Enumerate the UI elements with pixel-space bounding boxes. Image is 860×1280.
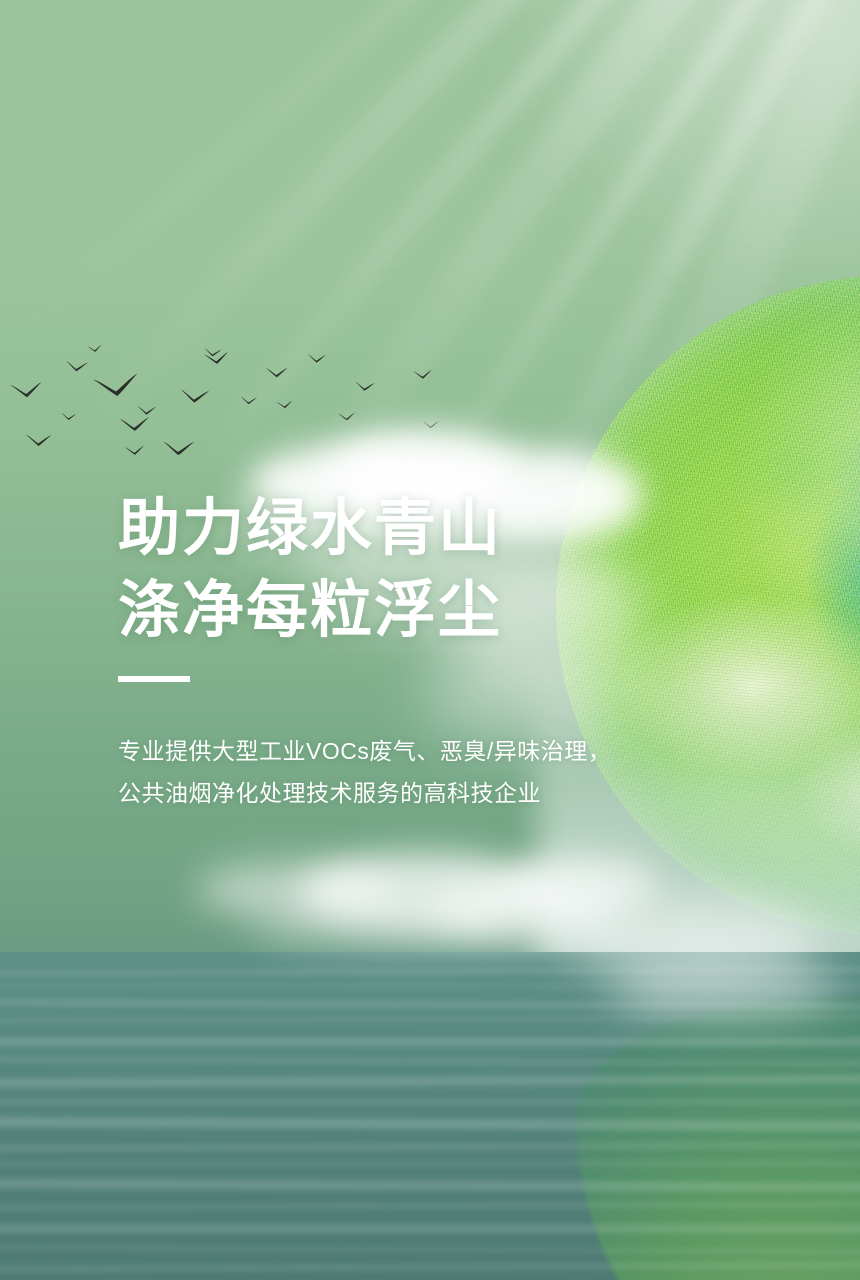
water-ripple	[0, 1160, 860, 1167]
bird-icon	[119, 416, 152, 434]
subtitle-line-1: 专业提供大型工业VOCs废气、恶臭/异味治理，	[118, 730, 678, 772]
banner-stage: 助力绿水青山 涤净每粒浮尘 专业提供大型工业VOCs废气、恶臭/异味治理， 公共…	[0, 0, 860, 1280]
subtitle-line-2: 公共油烟净化处理技术服务的高科技企业	[118, 772, 678, 814]
bird-icon	[337, 412, 356, 423]
bird-icon	[65, 360, 90, 375]
bird-icon	[240, 396, 258, 407]
bird-icon	[203, 351, 231, 367]
bird-icon	[91, 371, 143, 402]
bird-icon	[124, 445, 146, 457]
headline-line-1: 助力绿水青山	[118, 488, 678, 570]
water-ripple	[0, 1098, 860, 1106]
bird-icon	[61, 412, 78, 422]
bird-icon	[162, 439, 197, 458]
bird-icon	[25, 433, 53, 449]
headline-line-2: 涤净每粒浮尘	[118, 570, 678, 652]
water-ripple	[0, 1222, 860, 1235]
cloud	[610, 960, 840, 1020]
copy-block: 助力绿水青山 涤净每粒浮尘 专业提供大型工业VOCs废气、恶臭/异味治理， 公共…	[118, 488, 678, 814]
bird-icon	[9, 381, 44, 401]
bird-icon	[179, 388, 211, 407]
divider-rule	[118, 676, 190, 682]
bird-icon	[87, 344, 103, 354]
water-ripple	[0, 1036, 860, 1048]
bird-icon	[413, 369, 434, 381]
bird-icon	[265, 366, 289, 379]
bird-icon	[307, 353, 327, 364]
bird-icon	[276, 400, 294, 410]
cloud	[250, 900, 570, 948]
bird-icon	[354, 381, 376, 394]
